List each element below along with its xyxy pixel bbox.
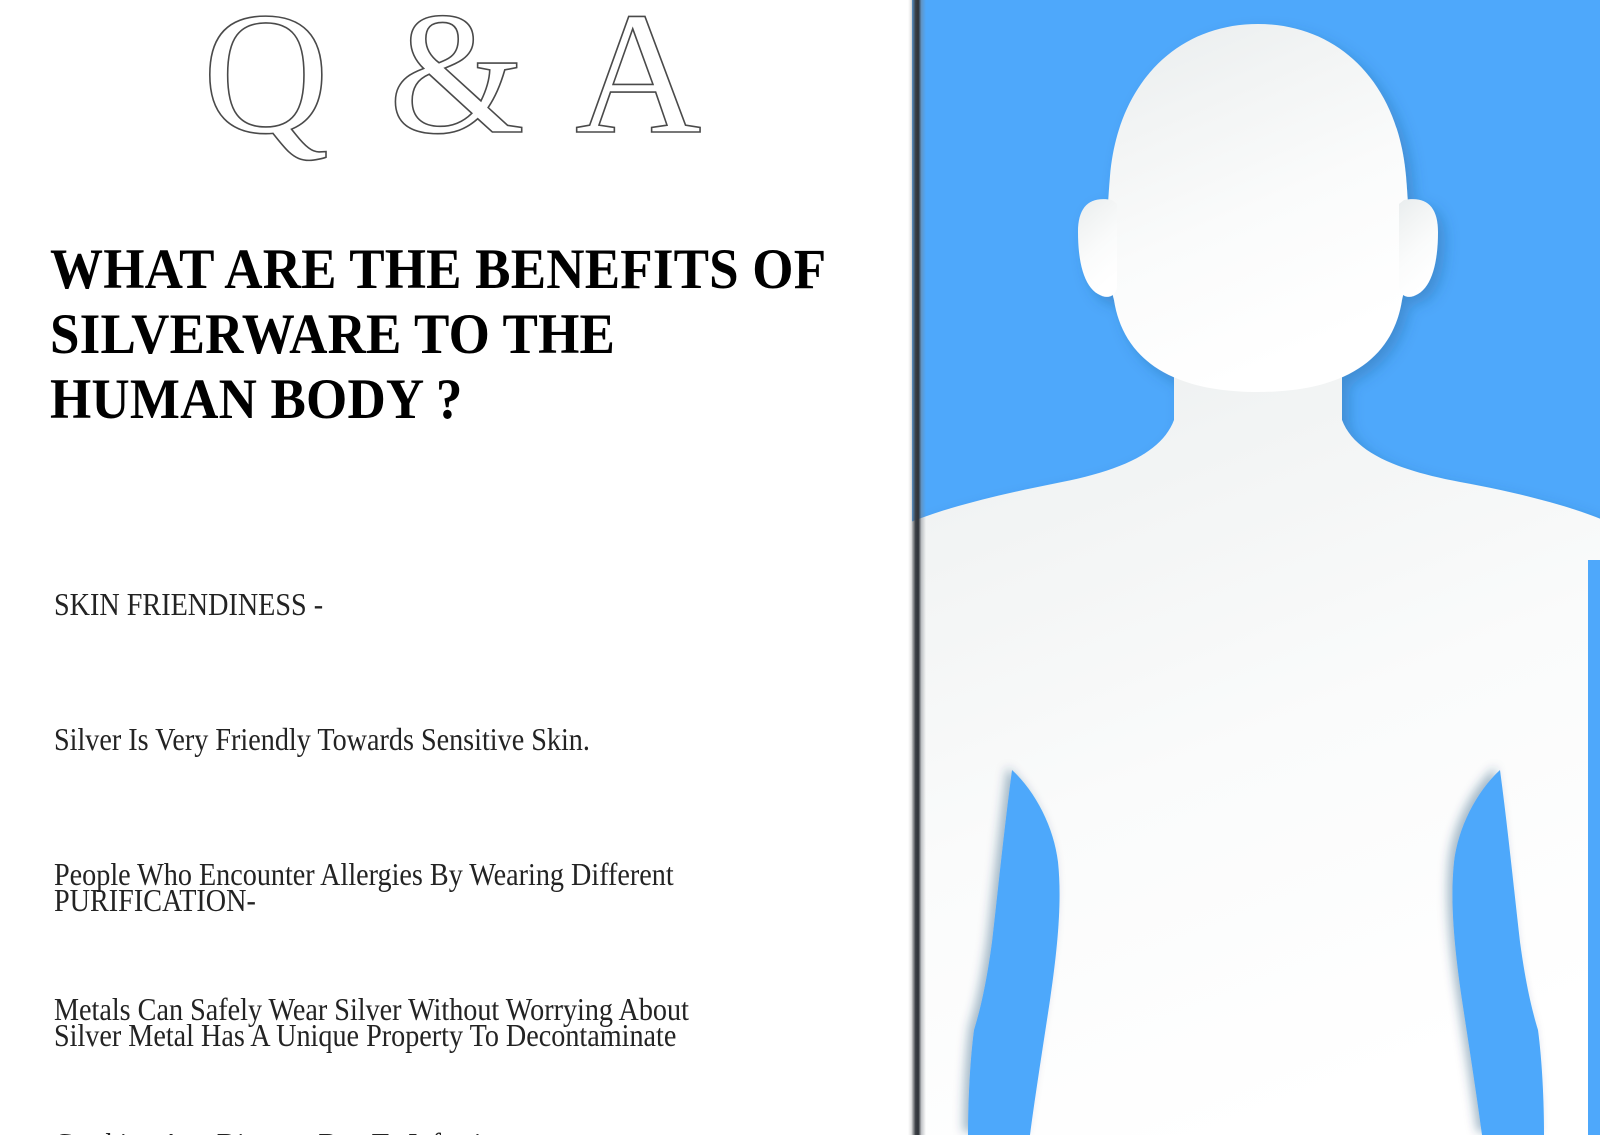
block-line: Silver Metal Has A Unique Property To De… (54, 1013, 784, 1058)
human-body-silhouette-icon (912, 0, 1600, 1135)
block-line: Silver Is Very Friendly Towards Sensitiv… (54, 717, 784, 762)
slide-root: Q & A WHAT ARE THE BENEFITS OF SILVERWAR… (0, 0, 1600, 1135)
illustration-panel (912, 0, 1600, 1135)
panel-divider (908, 0, 926, 1135)
page-title: WHAT ARE THE BENEFITS OF SILVERWARE TO T… (50, 238, 831, 433)
block-label-skin-friendiness: SKIN FRIENDINESS - (54, 582, 784, 627)
left-content-panel: Q & A WHAT ARE THE BENEFITS OF SILVERWAR… (0, 0, 912, 1135)
qa-decorative-title: Q & A (0, 0, 912, 166)
block-label-purification: PURIFICATION- (54, 878, 784, 923)
content-block-purification: PURIFICATION- Silver Metal Has A Unique … (54, 788, 784, 1135)
right-edge-strip (1588, 560, 1600, 1135)
